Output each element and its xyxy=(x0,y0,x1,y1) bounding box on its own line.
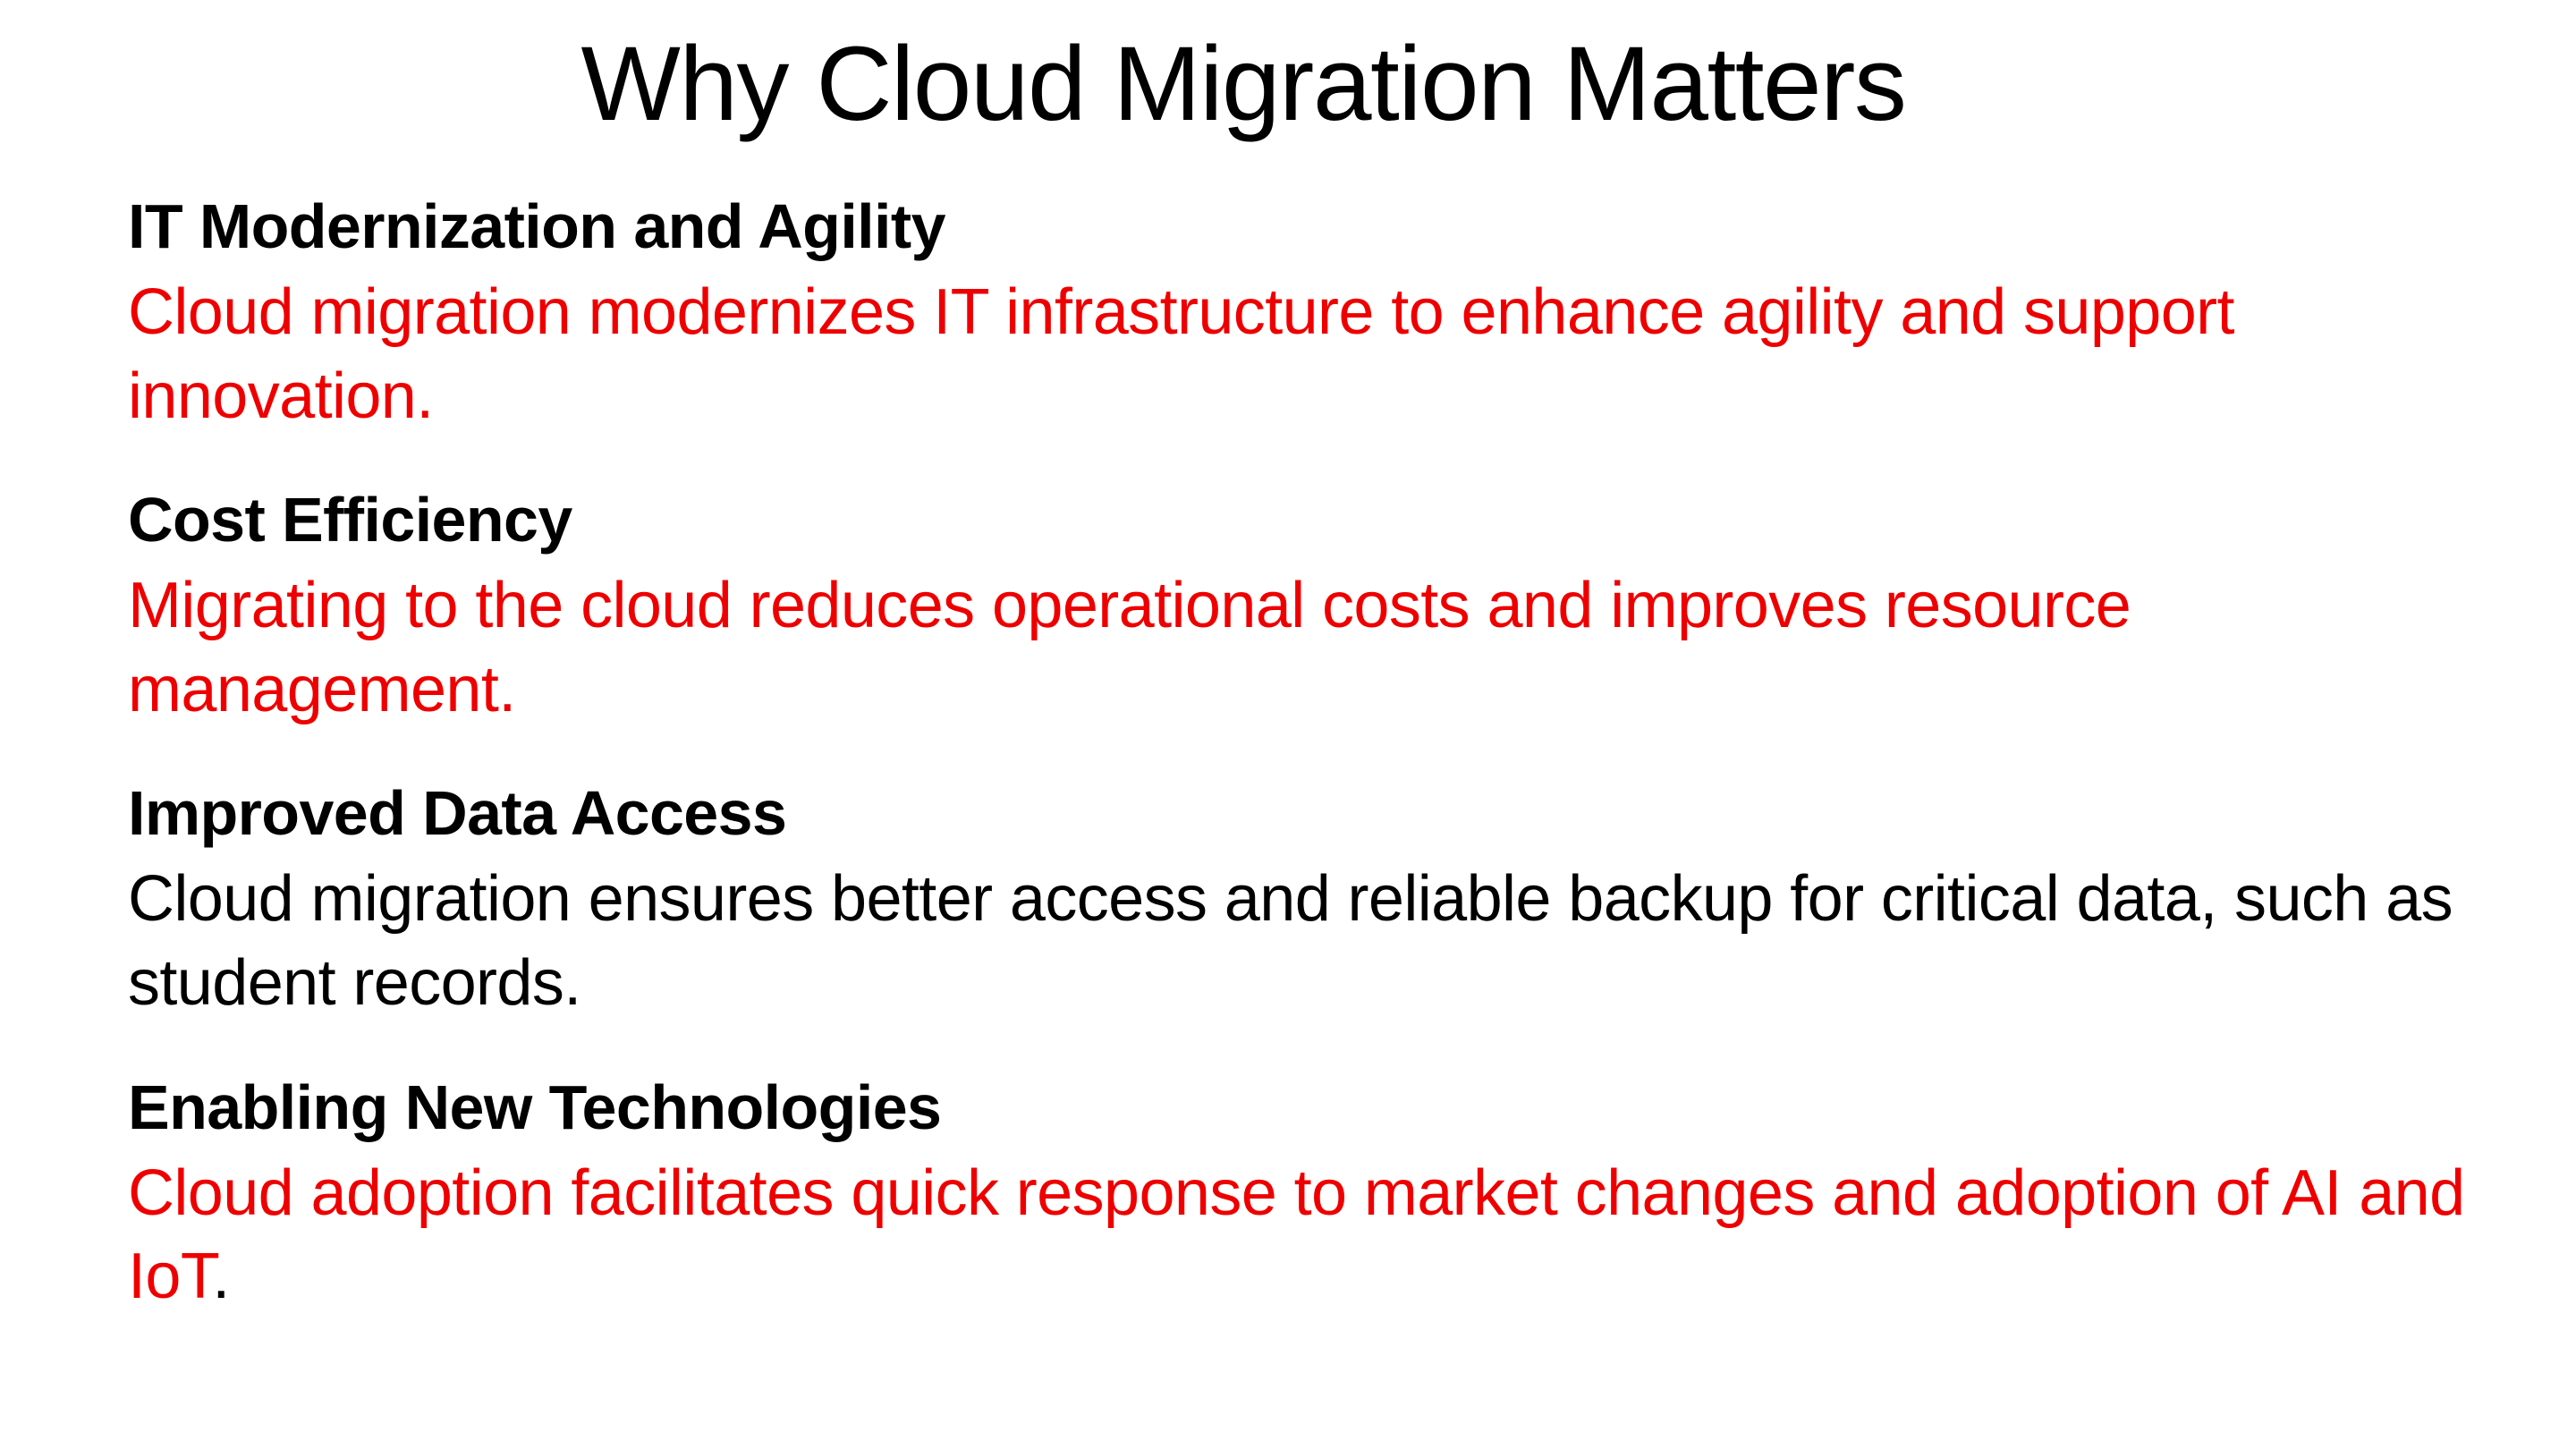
section-body-text: Cloud adoption facilitates quick respons… xyxy=(128,1157,2465,1313)
slide-content-body: IT Modernization and Agility Cloud migra… xyxy=(128,186,2543,1319)
section-body: Cloud migration ensures better access an… xyxy=(128,858,2489,1025)
slide-canvas: Why Cloud Migration Matters IT Moderniza… xyxy=(0,0,2576,1449)
content-section: Enabling New Technologies Cloud adoption… xyxy=(128,1067,2543,1319)
content-section: Cost Efficiency Migrating to the cloud r… xyxy=(128,479,2543,732)
page-title: Why Cloud Migration Matters xyxy=(0,25,2487,143)
section-body: Cloud migration modernizes IT infrastruc… xyxy=(128,271,2489,438)
section-body-trailing-punctuation: . xyxy=(212,1241,229,1312)
section-heading: Cost Efficiency xyxy=(128,479,2543,561)
section-body: Migrating to the cloud reduces operation… xyxy=(128,564,2489,732)
content-section: Improved Data Access Cloud migration ens… xyxy=(128,773,2543,1025)
section-heading: Improved Data Access xyxy=(128,773,2543,854)
section-heading: IT Modernization and Agility xyxy=(128,186,2543,267)
section-body: Cloud adoption facilitates quick respons… xyxy=(128,1152,2489,1319)
content-section: IT Modernization and Agility Cloud migra… xyxy=(128,186,2543,438)
section-heading: Enabling New Technologies xyxy=(128,1067,2543,1148)
